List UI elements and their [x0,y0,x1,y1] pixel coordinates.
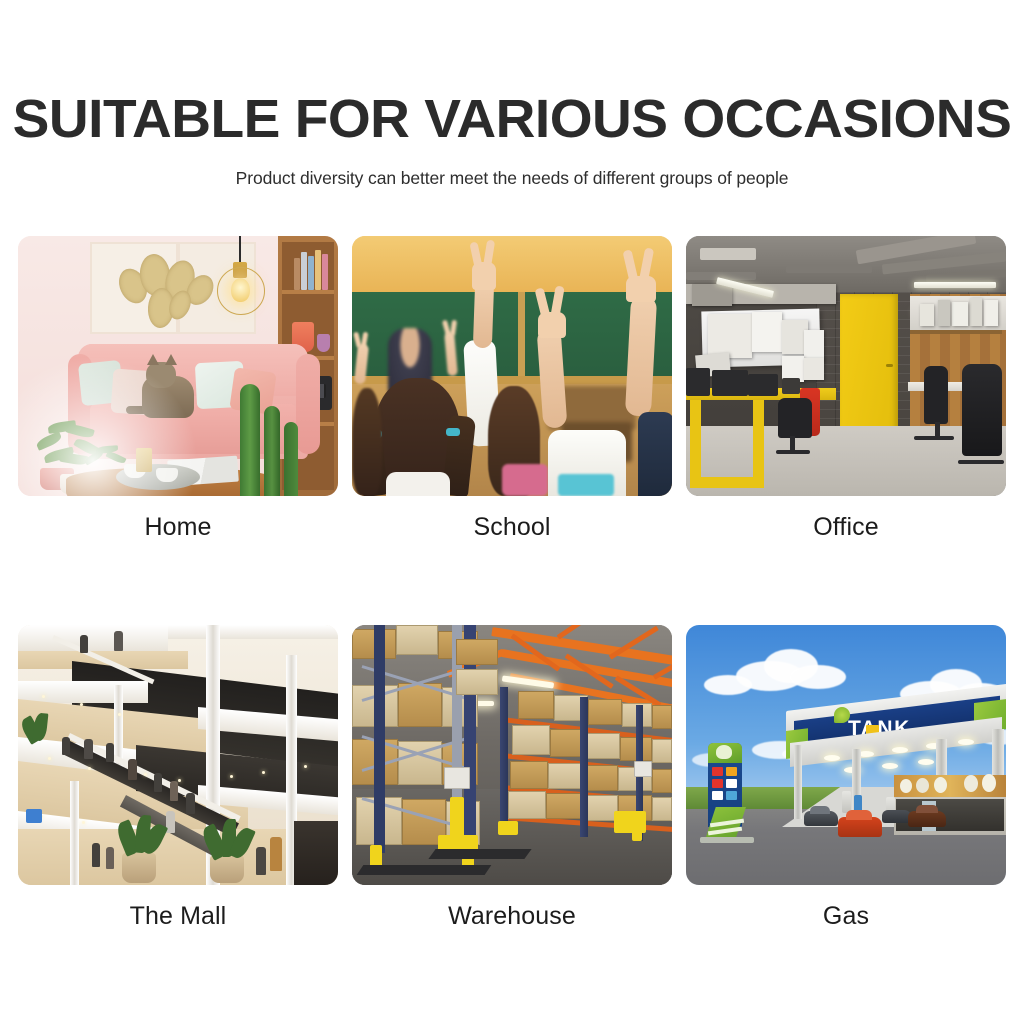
occasion-card-office[interactable]: Office [686,236,1006,542]
home-image [18,236,338,496]
occasion-card-home[interactable]: Home [18,236,338,542]
occasions-grid-row2: The Mall [18,625,1006,931]
occasion-card-school[interactable]: School [352,236,672,542]
occasion-card-gas[interactable]: TANK [686,625,1006,931]
caption-office: Office [686,513,1006,542]
page-header: SUITABLE FOR VARIOUS OCCASIONS Product d… [0,0,1024,189]
caption-home: Home [18,513,338,542]
caption-warehouse: Warehouse [352,902,672,931]
occasions-grid: Home [18,236,1006,542]
caption-gas: Gas [686,902,1006,931]
school-image [352,236,672,496]
warehouse-image [352,625,672,885]
caption-the-mall: The Mall [18,902,338,931]
occasion-card-the-mall[interactable]: The Mall [18,625,338,931]
gas-image: TANK [686,625,1006,885]
page-title: SUITABLE FOR VARIOUS OCCASIONS [0,92,1024,146]
mall-image [18,625,338,885]
office-image [686,236,1006,496]
occasion-card-warehouse[interactable]: Warehouse [352,625,672,931]
page-subtitle: Product diversity can better meet the ne… [0,168,1024,189]
caption-school: School [352,513,672,542]
page-root: SUITABLE FOR VARIOUS OCCASIONS Product d… [0,0,1024,1024]
